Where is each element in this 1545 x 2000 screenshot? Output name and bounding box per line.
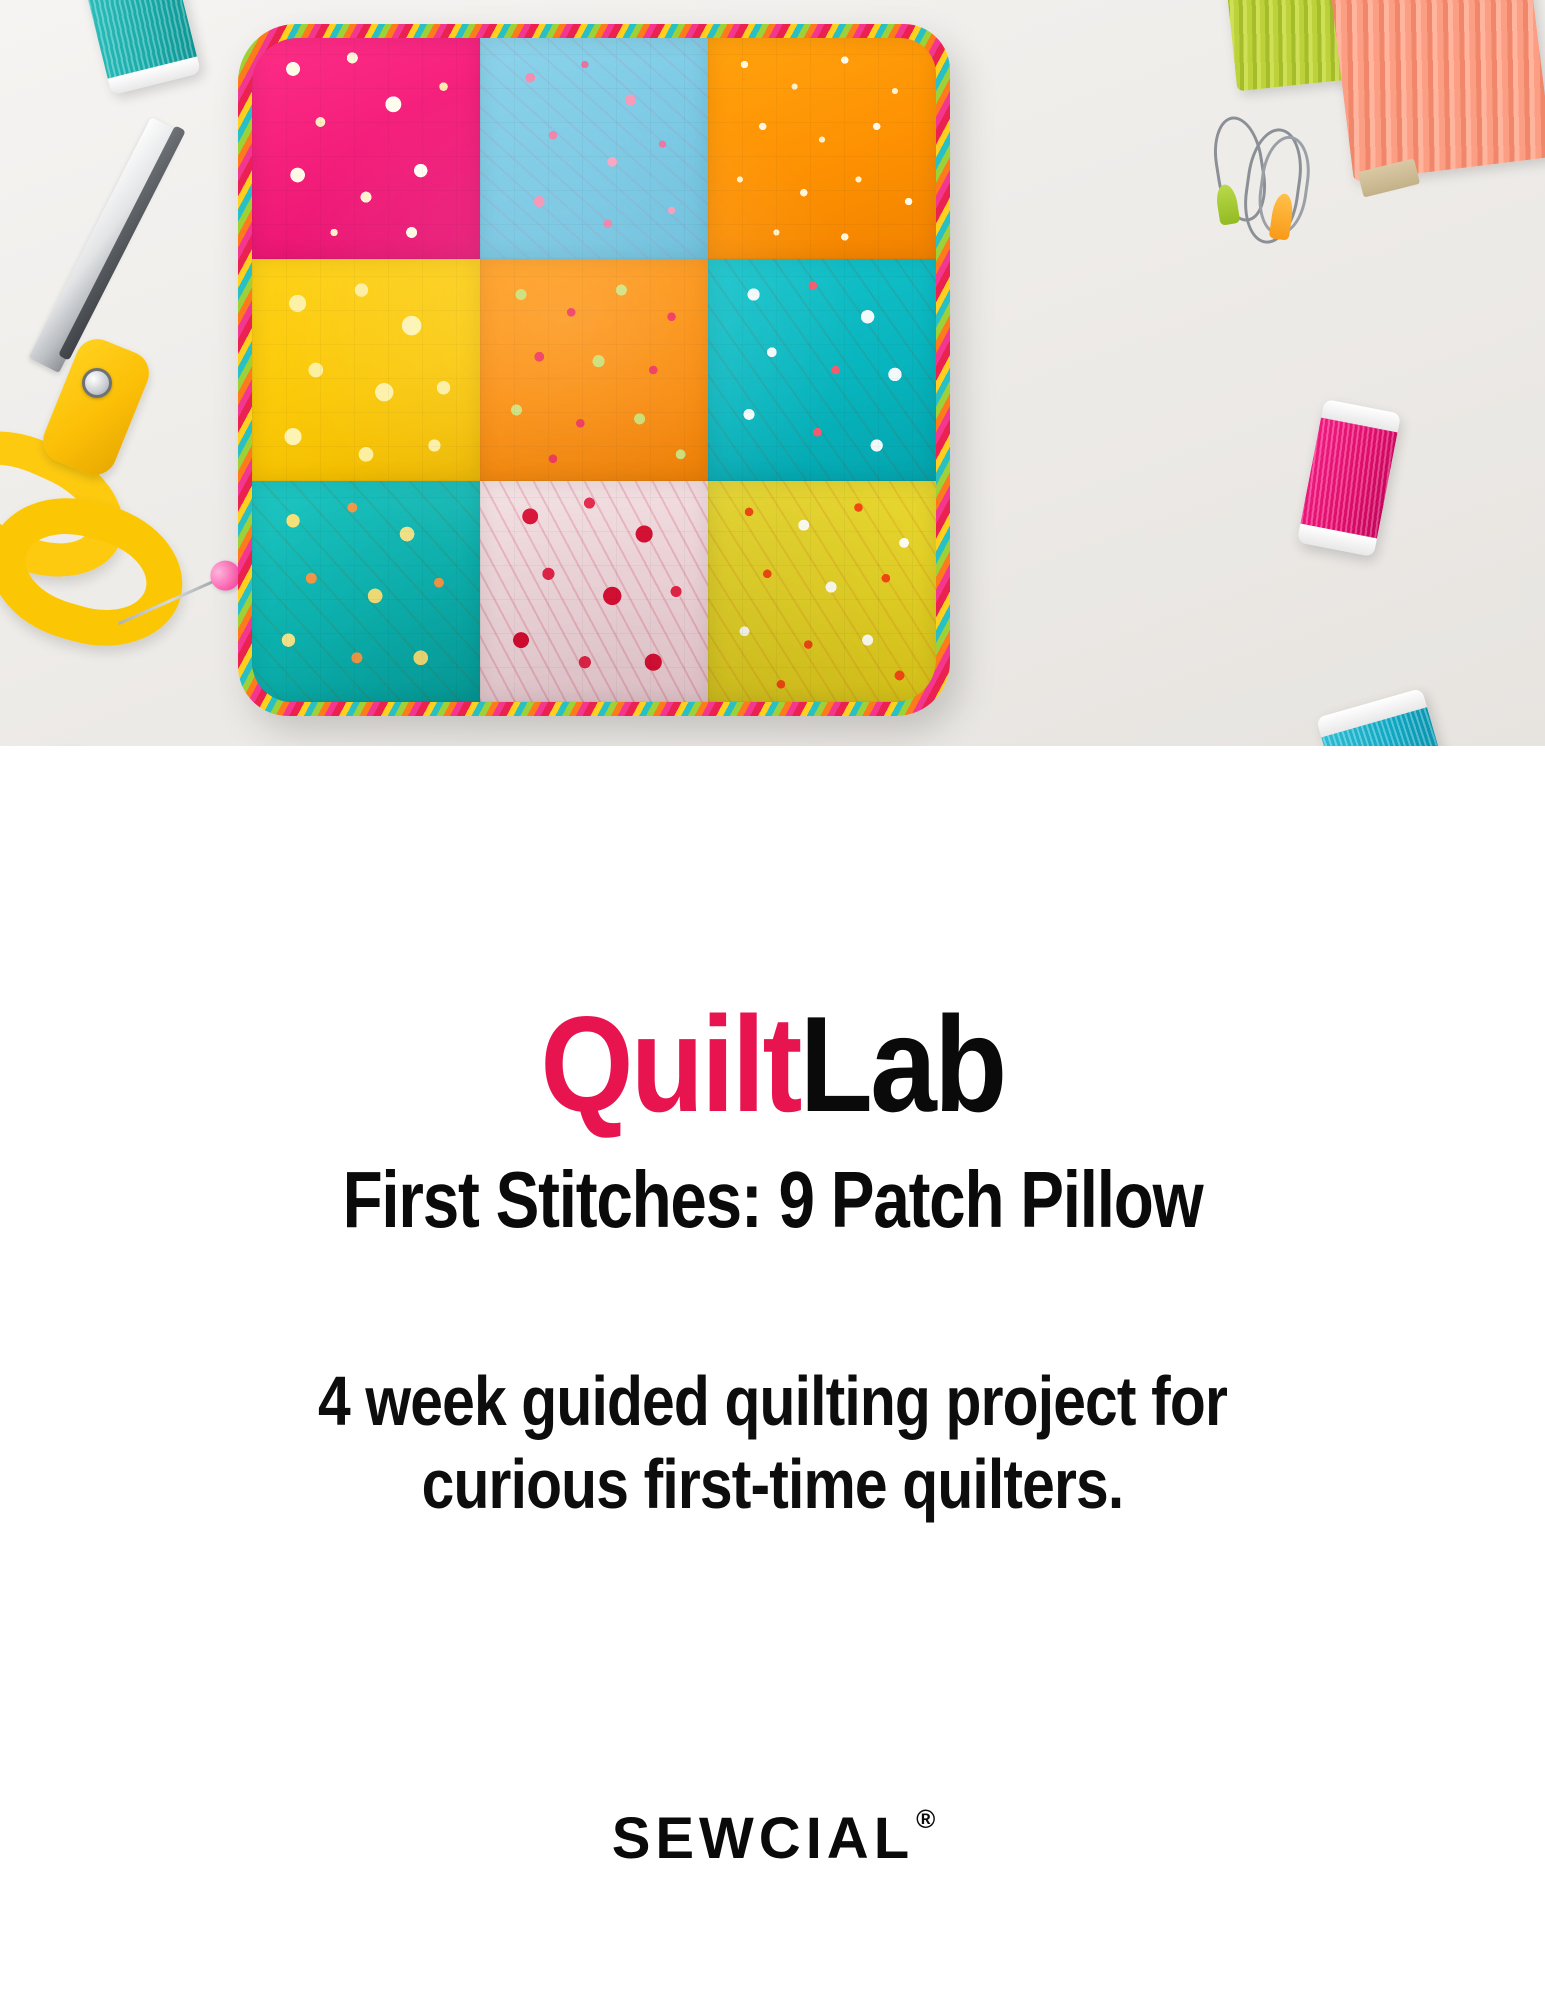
publisher-brand: SEWCIAL®: [0, 1805, 1545, 1872]
pillow-patch-grid: [252, 38, 936, 702]
hero-photo: [0, 0, 1545, 746]
poster-page: QuiltLab First Stitches: 9 Patch Pillow …: [0, 0, 1545, 2000]
patch-bottom-center: [480, 481, 708, 702]
patch-bottom-right: [708, 481, 936, 702]
patch-middle-center: [480, 259, 708, 480]
patch-bottom-left: [252, 481, 480, 702]
patch-top-right: [708, 38, 936, 259]
poster-content: QuiltLab First Stitches: 9 Patch Pillow …: [0, 746, 1545, 2000]
tagline-line-1: 4 week guided quilting project for: [124, 1360, 1422, 1443]
patch-middle-left: [252, 259, 480, 480]
logo-part-two: Lab: [800, 988, 1005, 1140]
patch-top-left: [252, 38, 480, 259]
course-tagline: 4 week guided quilting project for curio…: [124, 1360, 1422, 1525]
tagline-line-2: curious first-time quilters.: [124, 1443, 1422, 1526]
patch-middle-right: [708, 259, 936, 480]
registered-trademark-icon: ®: [916, 1804, 935, 1834]
quilted-pillow: [238, 24, 950, 716]
logo-part-one: Quilt: [540, 988, 799, 1140]
publisher-name: SEWCIAL: [612, 1806, 914, 1871]
brand-logo: QuiltLab: [93, 996, 1453, 1132]
patch-top-center: [480, 38, 708, 259]
bias-tape-coral-icon: [1324, 0, 1545, 181]
course-subtitle: First Stitches: 9 Patch Pillow: [139, 1158, 1406, 1242]
